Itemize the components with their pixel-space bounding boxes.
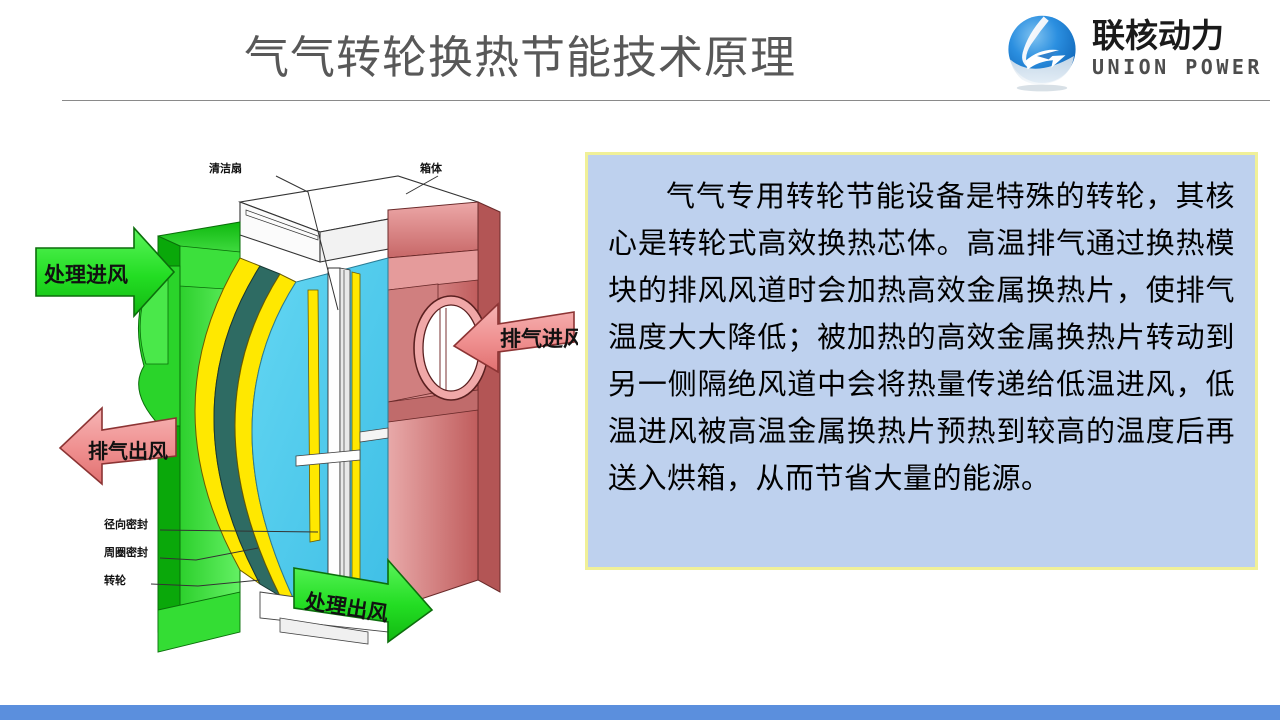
rotary-heat-exchanger-diagram: 清洁扇 箱体 径向密封 周圈密封 转轮 处理进风 排气进风 排气出风 — [8, 140, 578, 660]
page-title: 气气转轮换热节能技术原理 — [60, 18, 980, 88]
flow-arrow-label-exhaust-inlet: 排气进风 — [500, 327, 578, 351]
callout-label-rotor: 转轮 — [104, 573, 126, 587]
flow-arrow-label-exhaust-outlet: 排气出风 — [88, 439, 168, 463]
union-power-globe-icon — [1000, 9, 1084, 93]
callout-label-clean-fan: 清洁扇 — [209, 161, 242, 175]
company-logo: 联核动力 UNION POWER — [1000, 8, 1268, 94]
logo-wordmark: 联核动力 UNION POWER — [1092, 19, 1263, 83]
header-divider — [62, 100, 1270, 101]
slide-header: 气气转轮换热节能技术原理 — [0, 0, 1280, 104]
exhaust-duct-body — [388, 202, 500, 610]
description-paragraph: 气气专用转轮节能设备是特殊的转轮，其核心是转轮式高效换热芯体。高温排气通过换热模… — [608, 173, 1235, 502]
callout-label-radial-seal: 径向密封 — [104, 517, 148, 531]
logo-english-name: UNION POWER — [1092, 55, 1263, 79]
footer-accent-bar — [0, 705, 1280, 720]
logo-chinese-name: 联核动力 — [1092, 19, 1263, 53]
callout-label-cabinet: 箱体 — [420, 161, 443, 175]
description-text-box: 气气专用转轮节能设备是特殊的转轮，其核心是转轮式高效换热芯体。高温排气通过换热模… — [585, 152, 1258, 570]
callout-label-circumferential-seal: 周圈密封 — [104, 545, 148, 559]
slide-canvas: 气气转轮换热节能技术原理 — [0, 0, 1280, 720]
flow-arrow-label-process-inlet: 处理进风 — [43, 263, 128, 287]
